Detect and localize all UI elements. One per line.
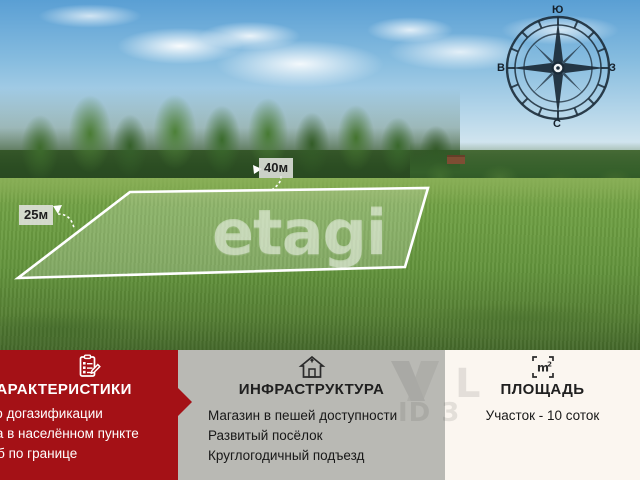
compass-label-west: В (497, 62, 505, 74)
compass-label-south: С (553, 118, 561, 130)
panel-arrow-divider (178, 388, 192, 416)
panel-line: да в населённом пункте (0, 424, 166, 444)
compass-label-north: Ю (552, 4, 563, 16)
dimension-label-top: 40м (259, 158, 293, 178)
feature-panels: ХАРАКТЕРИСТИКИ по догазификации да в нас… (0, 350, 640, 480)
agency-watermark-text: ID 3 (398, 398, 460, 428)
dimension-label-left: 25м (19, 205, 53, 225)
leader-left (58, 214, 74, 228)
panel-characteristics: ХАРАКТЕРИСТИКИ по догазификации да в нас… (0, 350, 178, 480)
panel-title-characteristics: ХАРАКТЕРИСТИКИ (0, 381, 164, 398)
compass-label-east: З (609, 62, 616, 74)
svg-text:2: 2 (547, 360, 552, 368)
compass-rose: Ю В З С (497, 4, 619, 132)
arrow-left (53, 205, 62, 214)
panel-line: по догазификации (0, 404, 166, 424)
panel-line: Участок - 10 соток (445, 406, 640, 426)
property-photo: etagi 40м 25м (0, 0, 640, 350)
plot-polygon (18, 188, 428, 278)
panel-title-area: ПЛОЩАДЬ (445, 381, 640, 398)
panel-body-area: Участок - 10 соток (445, 406, 640, 426)
panel-area: m 2 ПЛОЩАДЬ Участок - 10 соток (445, 350, 640, 480)
panel-line: Развитый посёлок (208, 426, 445, 446)
panel-body-characteristics: по догазификации да в населённом пункте … (0, 404, 166, 464)
leader-top (272, 176, 281, 190)
panel-line: Круглогодичный подъезд (208, 446, 445, 466)
compass-rose-graphic (497, 4, 619, 132)
listing-image: etagi 40м 25м (0, 0, 640, 480)
panel-title-infrastructure: ИНФРАСТРУКТУРА (178, 381, 445, 398)
panel-line: мб по границе (0, 444, 166, 464)
